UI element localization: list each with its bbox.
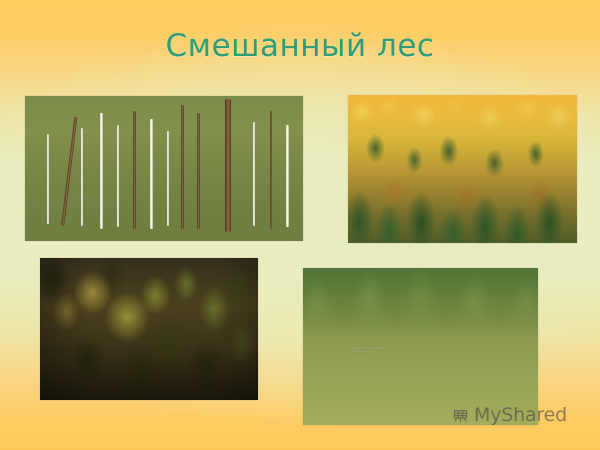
photo1-birch-trunk bbox=[286, 125, 288, 227]
photo1-birch-trunk bbox=[117, 125, 119, 227]
photo1-pine-trunk bbox=[270, 111, 273, 230]
photo1-pine-trunk bbox=[181, 105, 184, 230]
myshared-watermark: MyShared bbox=[452, 406, 567, 425]
photo1-pine-trunk bbox=[197, 113, 199, 229]
photo1-front-grass bbox=[25, 96, 303, 241]
photo1-birch-trunk bbox=[81, 128, 83, 227]
photo1-birch-trunk bbox=[100, 113, 103, 229]
myshared-watermark-text: MyShared bbox=[474, 406, 567, 425]
photo1-pine-trunk-large bbox=[225, 99, 231, 232]
photo-birch-pine-forest-painting bbox=[25, 96, 303, 241]
photo4-foreground-grass bbox=[303, 268, 538, 425]
photo1-birch-trunk bbox=[167, 131, 169, 227]
photo1-birch-trunk bbox=[253, 122, 255, 226]
photo4-watermark-line2: photosight bbox=[352, 350, 384, 354]
photo1-pine-trunk bbox=[133, 111, 136, 230]
photo4-embedded-watermark: www.photosight.ru photosight bbox=[352, 347, 384, 355]
photo-autumn-golden-forest bbox=[348, 95, 577, 243]
photo-green-spruce-forest: www.photosight.ru photosight bbox=[303, 268, 538, 425]
photo2-foreground-layer bbox=[348, 95, 577, 243]
photo1-birch-trunk bbox=[47, 134, 49, 224]
page-title: Смешанный лес bbox=[0, 28, 600, 64]
photo1-birch-trunk bbox=[150, 119, 153, 229]
slide-root: Смешанный лес bbox=[0, 0, 600, 450]
photo3-shading-layer bbox=[40, 258, 258, 400]
myshared-logo-icon bbox=[452, 407, 469, 424]
photo-dark-autumn-mixed-forest bbox=[40, 258, 258, 400]
